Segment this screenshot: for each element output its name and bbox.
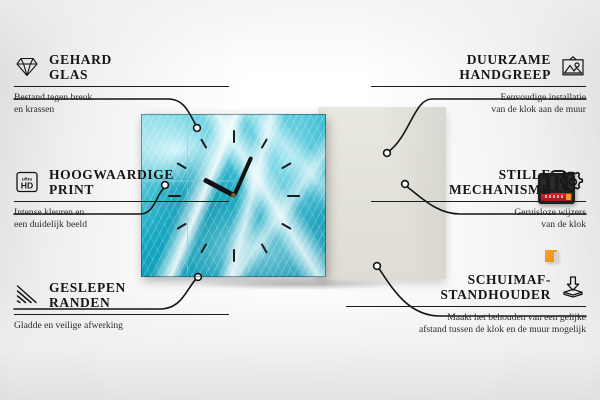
diamond-icon [14,55,40,79]
foam-spacer-pad [545,250,557,262]
feature-title: GESLEPEN RANDEN [49,280,126,310]
feature-header: ultra HD HOOGWAARDIGE PRINT [14,167,229,197]
feature-header: STILLE MECHANISME [371,167,586,197]
feature-title-line2: STANDHOUDER [440,287,551,302]
feature-title: GEHARD GLAS [49,52,112,82]
clock-hour-mark [287,195,300,197]
feature-divider [371,86,586,87]
feature-title-line2: MECHANISME [449,182,551,197]
feature-title-line1: GESLEPEN [49,280,126,295]
feature-header: GEHARD GLAS [14,52,229,82]
feature-desc-line2: van de klok aan de muur [371,104,586,116]
feature-title-line2: RANDEN [49,295,126,310]
feature-geslepen-randen: GESLEPEN RANDEN Gladde en veilige afwerk… [14,280,229,332]
feature-desc-line1: Gladde en veilige afwerking [14,320,229,332]
clock-hour-mark [233,249,235,262]
feature-title-line2: PRINT [49,182,174,197]
feature-desc-line1: Intense kleuren en [14,207,229,219]
feature-divider [346,306,586,307]
feature-desc-line1: Bestand tegen breuk [14,92,229,104]
feature-title: HOOGWAARDIGE PRINT [49,167,174,197]
clock-hour-mark [233,130,235,143]
foam-spacer-icon [560,275,586,299]
feature-title-line1: HOOGWAARDIGE [49,167,174,182]
feature-desc-line2: en krassen [14,104,229,116]
feature-title-line1: STILLE [449,167,551,182]
feature-desc-line1: Eenvoudige installatie [371,92,586,104]
feature-duurzame-handgreep: DUURZAME HANDGREEP Eenvoudige installati… [371,52,586,115]
feature-title-line2: HANDGREEP [459,67,551,82]
feature-description: Intense kleuren en een duidelijk beeld [14,207,229,230]
feature-description: Bestand tegen breuk en krassen [14,92,229,115]
feature-gehard-glas: GEHARD GLAS Bestand tegen breuk en krass… [14,52,229,115]
ultra-hd-icon: ultra HD [14,170,40,194]
feature-stille-mechanisme: STILLE MECHANISME Geruisloze wijzers van… [371,167,586,230]
beveled-edge-icon [14,283,40,307]
feature-title: SCHUIMAF- STANDHOUDER [440,272,551,302]
feature-description: Gladde en veilige afwerking [14,320,229,332]
feature-title: DUURZAME HANDGREEP [459,52,551,82]
feature-divider [14,201,229,202]
feature-hoogwaardige-print: ultra HD HOOGWAARDIGE PRINT Intense kleu… [14,167,229,230]
feature-divider [14,314,229,315]
clock-center-pin [231,193,236,198]
feature-title: STILLE MECHANISME [449,167,551,197]
feature-header: SCHUIMAF- STANDHOUDER [346,272,586,302]
feature-divider [371,201,586,202]
feature-description: Geruisloze wijzers van de klok [371,207,586,230]
feature-schuimafstandhouder: SCHUIMAF- STANDHOUDER Maakt het behouden… [346,272,586,335]
feature-desc-line2: afstand tussen de klok en de muur mogeli… [346,324,586,336]
feature-desc-line1: Geruisloze wijzers [371,207,586,219]
feature-description: Eenvoudige installatie van de klok aan d… [371,92,586,115]
feature-description: Maakt het behouden van een gelijke afsta… [346,312,586,335]
feature-title-line1: GEHARD [49,52,112,67]
infographic-canvas: GEHARD GLAS Bestand tegen breuk en krass… [0,0,600,400]
feature-title-line1: SCHUIMAF- [440,272,551,287]
feature-header: DUURZAME HANDGREEP [371,52,586,82]
feature-desc-line2: een duidelijk beeld [14,219,229,231]
ultra-hd-icon-main: HD [21,180,33,190]
gear-icon [560,170,586,194]
picture-frame-icon [560,55,586,79]
feature-title-line1: DUURZAME [459,52,551,67]
feature-header: GESLEPEN RANDEN [14,280,229,310]
feature-desc-line1: Maakt het behouden van een gelijke [346,312,586,324]
feature-divider [14,86,229,87]
feature-desc-line2: van de klok [371,219,586,231]
feature-title-line2: GLAS [49,67,112,82]
